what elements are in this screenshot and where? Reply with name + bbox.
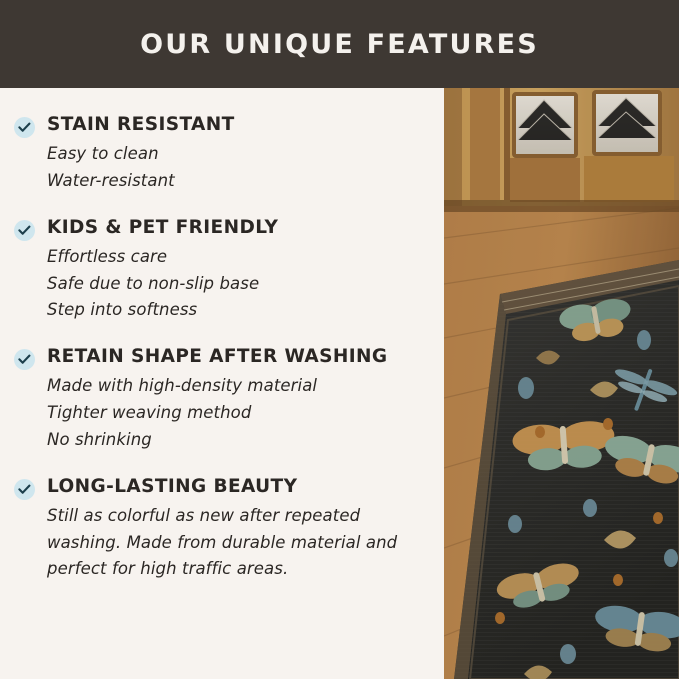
feature-line: Safe due to non-slip base bbox=[47, 271, 426, 298]
rug-photo-illustration bbox=[444, 88, 679, 679]
feature-title: STAIN RESISTANT bbox=[47, 114, 426, 135]
feature-line: No shrinking bbox=[47, 427, 426, 454]
feature-line: Effortless care bbox=[47, 244, 426, 271]
check-icon bbox=[14, 220, 35, 241]
feature-title: LONG-LASTING BEAUTY bbox=[47, 476, 426, 497]
check-icon bbox=[14, 479, 35, 500]
feature-item-long-lasting-beauty: LONG-LASTING BEAUTY Still as colorful as… bbox=[14, 476, 426, 583]
rug-photo bbox=[444, 88, 679, 679]
feature-line: Tighter weaving method bbox=[47, 400, 426, 427]
feature-text: KIDS & PET FRIENDLY Effortless care Safe… bbox=[47, 217, 426, 324]
feature-title: KIDS & PET FRIENDLY bbox=[47, 217, 426, 238]
feature-text: STAIN RESISTANT Easy to clean Water-resi… bbox=[47, 114, 426, 195]
page-title: OUR UNIQUE FEATURES bbox=[140, 29, 539, 60]
poster-header: OUR UNIQUE FEATURES bbox=[0, 0, 679, 88]
feature-item-kids-pet-friendly: KIDS & PET FRIENDLY Effortless care Safe… bbox=[14, 217, 426, 324]
feature-poster: OUR UNIQUE FEATURES STAIN RESISTANT Easy… bbox=[0, 0, 679, 679]
feature-line: Step into softness bbox=[47, 297, 426, 324]
feature-text: LONG-LASTING BEAUTY Still as colorful as… bbox=[47, 476, 426, 583]
feature-paragraph: Still as colorful as new after repeated … bbox=[47, 503, 425, 583]
feature-line: Made with high-density material bbox=[47, 373, 426, 400]
feature-item-retain-shape: RETAIN SHAPE AFTER WASHING Made with hig… bbox=[14, 346, 426, 453]
features-panel: STAIN RESISTANT Easy to clean Water-resi… bbox=[0, 88, 444, 679]
feature-title: RETAIN SHAPE AFTER WASHING bbox=[47, 346, 426, 367]
check-icon bbox=[14, 349, 35, 370]
check-icon bbox=[14, 117, 35, 138]
feature-line: Easy to clean bbox=[47, 141, 426, 168]
feature-item-stain-resistant: STAIN RESISTANT Easy to clean Water-resi… bbox=[14, 114, 426, 195]
poster-body: STAIN RESISTANT Easy to clean Water-resi… bbox=[0, 88, 679, 679]
feature-line: Water-resistant bbox=[47, 168, 426, 195]
feature-text: RETAIN SHAPE AFTER WASHING Made with hig… bbox=[47, 346, 426, 453]
